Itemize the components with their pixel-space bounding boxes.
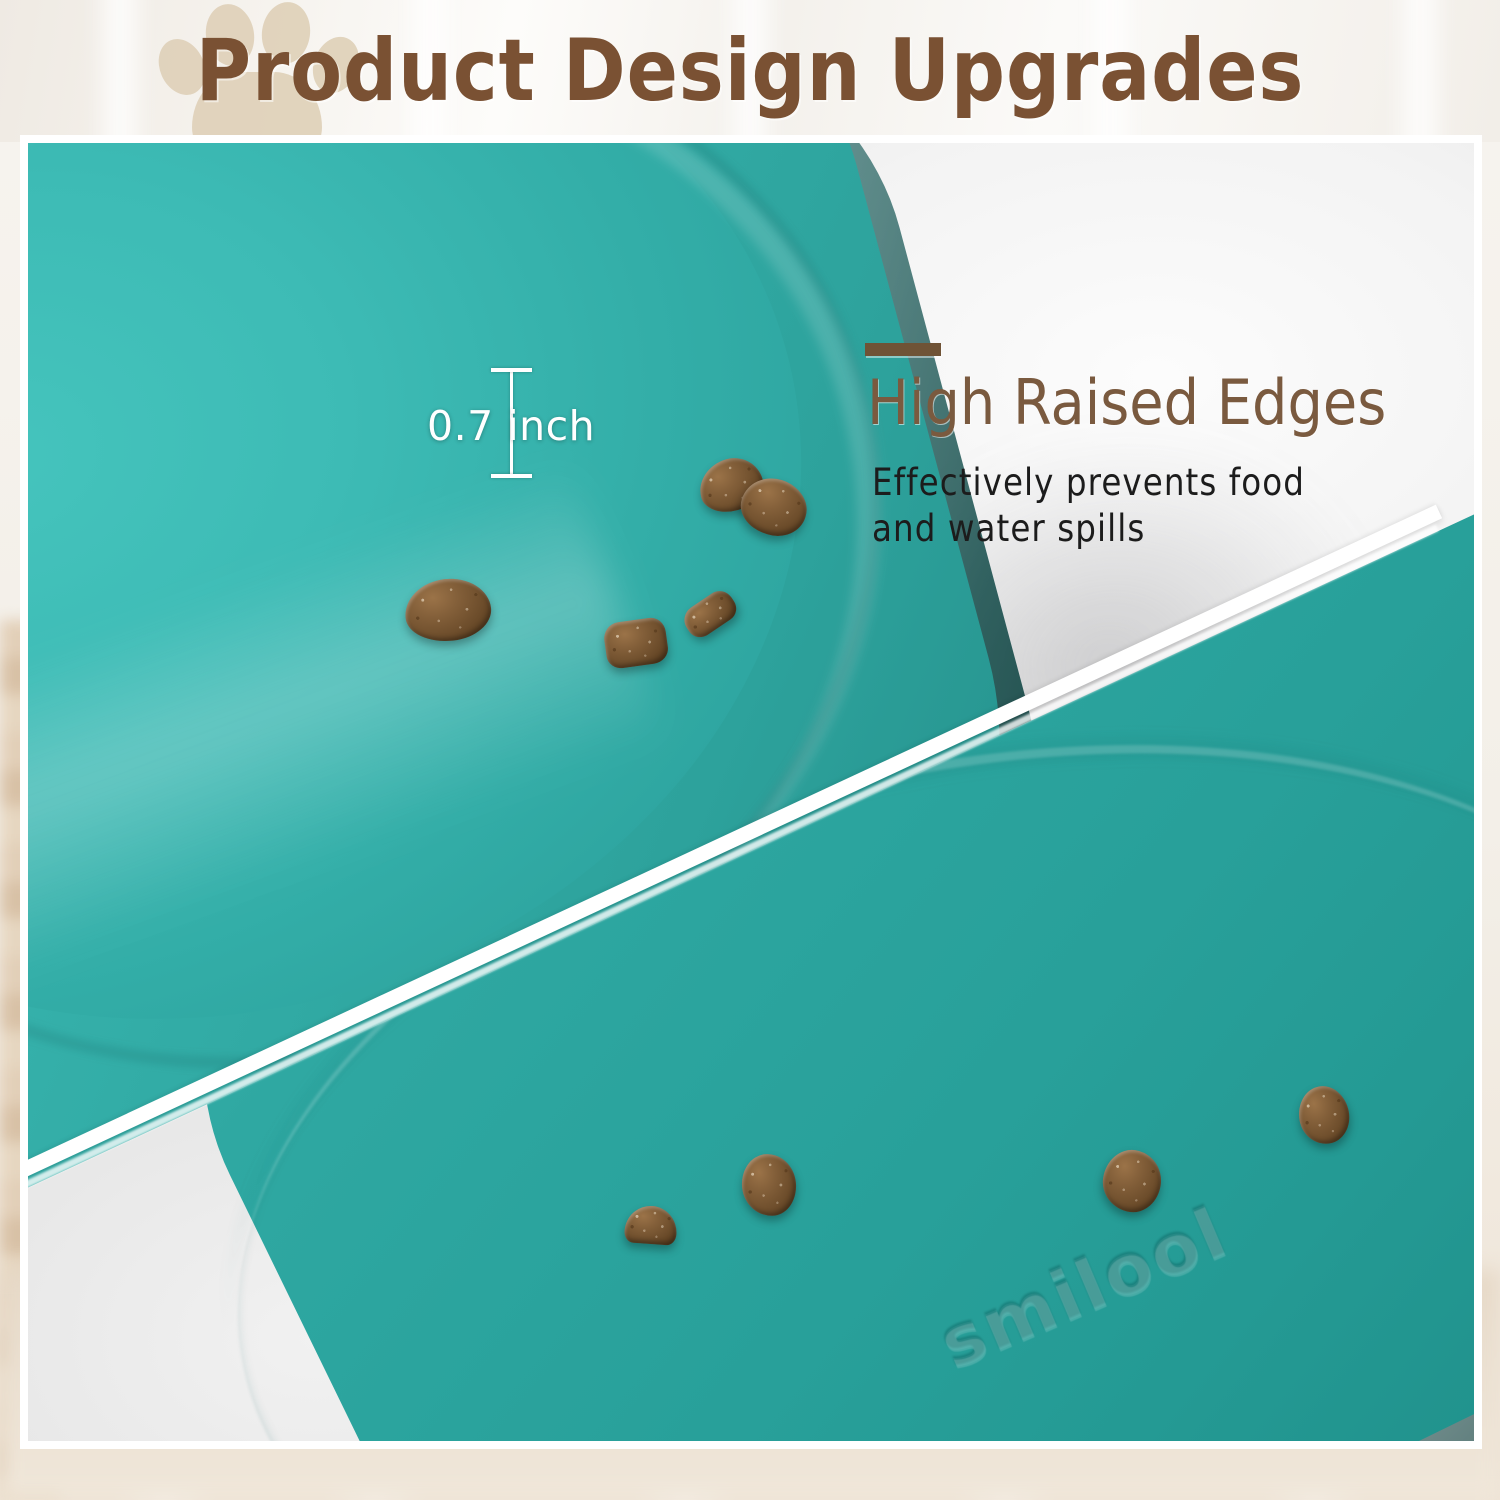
page-title: Product Design Upgrades [90,0,1410,142]
dimension-cap-bottom-icon [491,474,532,478]
dimension-label: 0.7 inch [427,402,595,450]
accent-bar [865,343,941,356]
callout-heading: High Raised Edges [867,366,1386,439]
dimension-cap-top-icon [491,368,532,372]
product-photo-panel: smilool 0.7 inch High Raised Edges Effec… [27,142,1475,1442]
callout-subtext: Effectively prevents food and water spil… [872,460,1305,552]
